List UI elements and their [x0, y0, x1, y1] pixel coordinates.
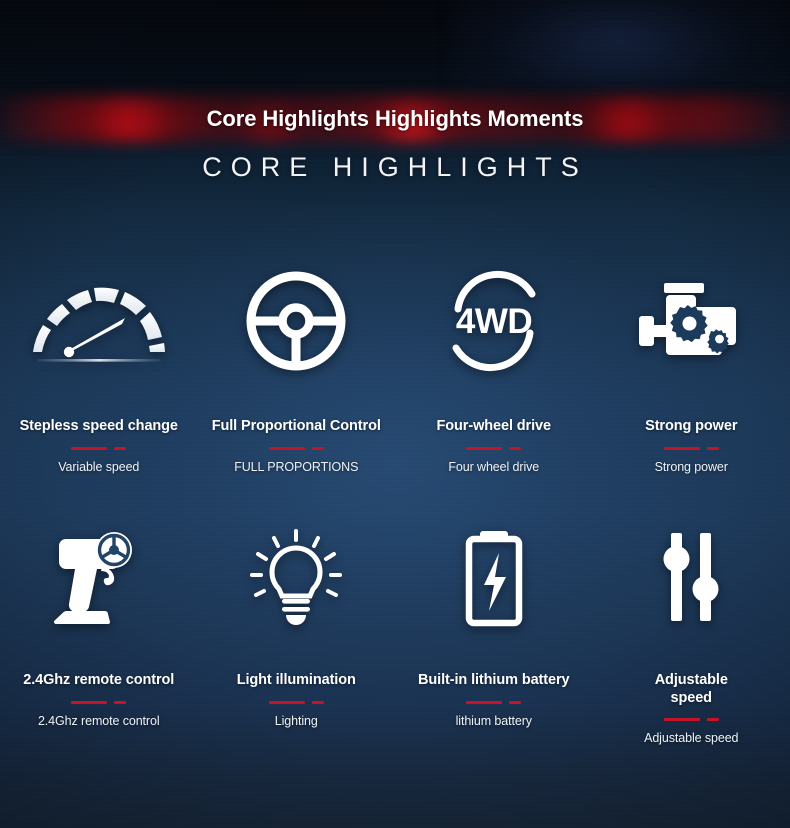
divider-dash-long — [466, 701, 502, 704]
feature-row-2: 2.4Ghz remote control 2.4Ghz remote cont… — [0, 520, 790, 772]
sliders-adjust-icon — [653, 520, 729, 638]
divider-dash-short — [509, 701, 521, 704]
divider-dash-long — [71, 447, 107, 450]
feature-item-light-illumination: Light illumination Lighting — [198, 520, 396, 772]
four-wheel-drive-4wd-icon: 4WD — [436, 262, 552, 380]
rc-transmitter-icon — [49, 520, 149, 638]
four-wheel-drive-icon-text: 4WD — [456, 302, 532, 341]
feature-sublabel: Lighting — [275, 714, 318, 728]
feature-grid: Stepless speed change Variable speed — [0, 262, 790, 772]
feature-sublabel: Adjustable speed — [644, 731, 738, 745]
divider — [466, 447, 521, 450]
feature-sublabel: Variable speed — [58, 460, 139, 474]
divider-dash-short — [312, 447, 324, 450]
page-title: Core Highlights Highlights Moments — [0, 106, 790, 132]
feature-label: Light illumination — [237, 672, 356, 690]
feature-label: Four-wheel drive — [437, 418, 551, 436]
feature-item-full-proportional-control: Full Proportional Control FULL PROPORTIO… — [198, 262, 396, 520]
feature-label: 2.4Ghz remote control — [23, 672, 174, 690]
divider-dash-short — [312, 701, 324, 704]
divider-dash-short — [707, 447, 719, 450]
page-title-part1: Core Highlights — [207, 106, 375, 131]
divider — [466, 701, 521, 704]
divider-dash-long — [269, 447, 305, 450]
feature-label: Adjustable speed — [642, 672, 740, 707]
divider — [71, 447, 126, 450]
divider — [664, 718, 719, 721]
feature-item-adjustable-speed: Adjustable speed Adjustable speed — [593, 520, 790, 772]
divider-dash-short — [509, 447, 521, 450]
speedometer-gauge-icon — [29, 262, 169, 380]
feature-label: Stepless speed change — [20, 418, 178, 436]
divider — [269, 701, 324, 704]
feature-item-four-wheel-drive: 4WD Four-wheel drive Four wheel drive — [395, 262, 593, 520]
banner-header: Core Highlights Highlights Moments CORE … — [0, 0, 790, 205]
feature-label: Strong power — [645, 418, 737, 436]
feature-sublabel: FULL PROPORTIONS — [234, 460, 358, 474]
feature-sublabel: lithium battery — [456, 714, 532, 728]
steering-wheel-icon — [244, 262, 348, 380]
divider — [664, 447, 719, 450]
core-highlights-banner: Core Highlights Highlights Moments CORE … — [0, 0, 790, 828]
engine-gears-icon — [632, 262, 750, 380]
feature-label: Built-in lithium battery — [418, 672, 569, 690]
battery-lightning-icon — [454, 520, 534, 638]
feature-item-stepless-speed-change: Stepless speed change Variable speed — [0, 262, 198, 520]
feature-item-strong-power: Strong power Strong power — [593, 262, 790, 520]
divider-dash-long — [664, 718, 700, 721]
divider-dash-short — [114, 447, 126, 450]
feature-sublabel: Four wheel drive — [448, 460, 539, 474]
light-bulb-icon — [244, 520, 348, 638]
feature-label: Full Proportional Control — [212, 418, 381, 436]
feature-sublabel: Strong power — [655, 460, 728, 474]
divider-dash-short — [114, 701, 126, 704]
divider — [269, 447, 324, 450]
divider-dash-long — [466, 447, 502, 450]
divider — [71, 701, 126, 704]
page-subtitle: CORE HIGHLIGHTS — [0, 152, 790, 183]
divider-dash-short — [707, 718, 719, 721]
divider-dash-long — [71, 701, 107, 704]
feature-item-24ghz-remote-control: 2.4Ghz remote control 2.4Ghz remote cont… — [0, 520, 198, 772]
feature-sublabel: 2.4Ghz remote control — [38, 714, 160, 728]
page-title-part2: Highlights Moments — [375, 106, 583, 131]
divider-dash-long — [664, 447, 700, 450]
divider-dash-long — [269, 701, 305, 704]
feature-row-1: Stepless speed change Variable speed — [0, 262, 790, 520]
feature-item-builtin-lithium-battery: Built-in lithium battery lithium battery — [395, 520, 593, 772]
